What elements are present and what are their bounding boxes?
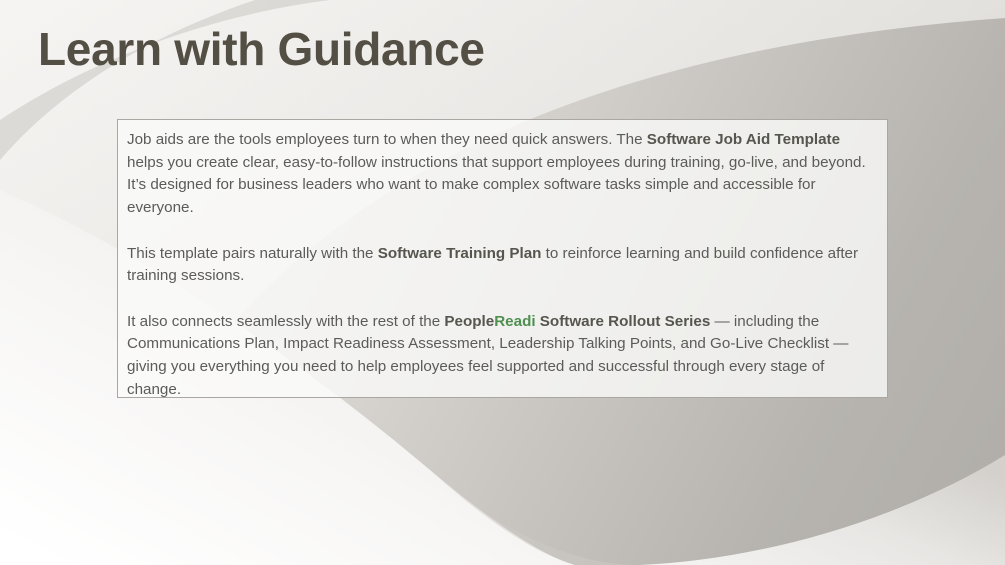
paragraph-3-text-a: It also connects seamlessly with the res… xyxy=(127,313,444,330)
page-title: Learn with Guidance xyxy=(38,24,485,75)
paragraph-2-bold-software-training-plan: Software Training Plan xyxy=(378,245,542,262)
paragraph-1-bold-software-job-aid-template: Software Job Aid Template xyxy=(647,131,840,148)
paragraph-3-bold-software-rollout-series: Software Rollout Series xyxy=(536,313,711,330)
swoosh-bottom-right xyxy=(640,455,1005,565)
paragraph-1-text-b: helps you create clear, easy-to-follow i… xyxy=(127,154,866,216)
brand-people: People xyxy=(444,313,494,330)
swoosh-lower-edge xyxy=(430,470,640,565)
content-text-box: Job aids are the tools employees turn to… xyxy=(117,119,888,398)
paragraph-2: This template pairs naturally with the S… xyxy=(127,243,873,288)
paragraph-3: It also connects seamlessly with the res… xyxy=(127,311,873,398)
paragraph-2-text-a: This template pairs naturally with the xyxy=(127,245,378,262)
paragraph-1: Job aids are the tools employees turn to… xyxy=(127,129,873,220)
paragraph-1-text-a: Job aids are the tools employees turn to… xyxy=(127,131,647,148)
brand-readi: Readi xyxy=(494,313,535,330)
slide-canvas: Learn with Guidance Job aids are the too… xyxy=(0,0,1005,565)
